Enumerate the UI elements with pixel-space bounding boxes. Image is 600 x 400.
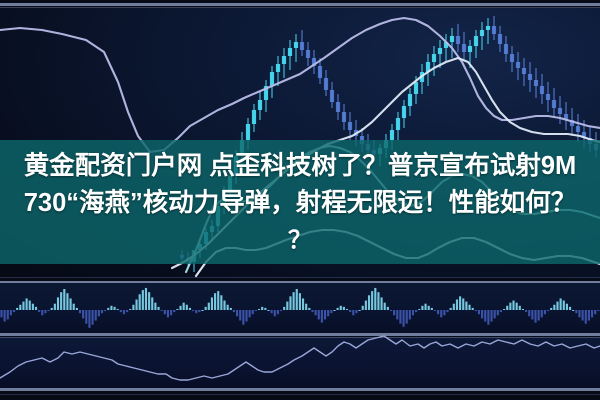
indicator-line-series [0, 336, 600, 380]
chart-background-image: 黄金配资门户网 点歪科技树了？普京宣布试射9M 730“海燕”核动力导弹，射程无… [0, 0, 600, 400]
macd-histogram-series [0, 288, 599, 328]
headline-overlay-band [0, 140, 600, 264]
